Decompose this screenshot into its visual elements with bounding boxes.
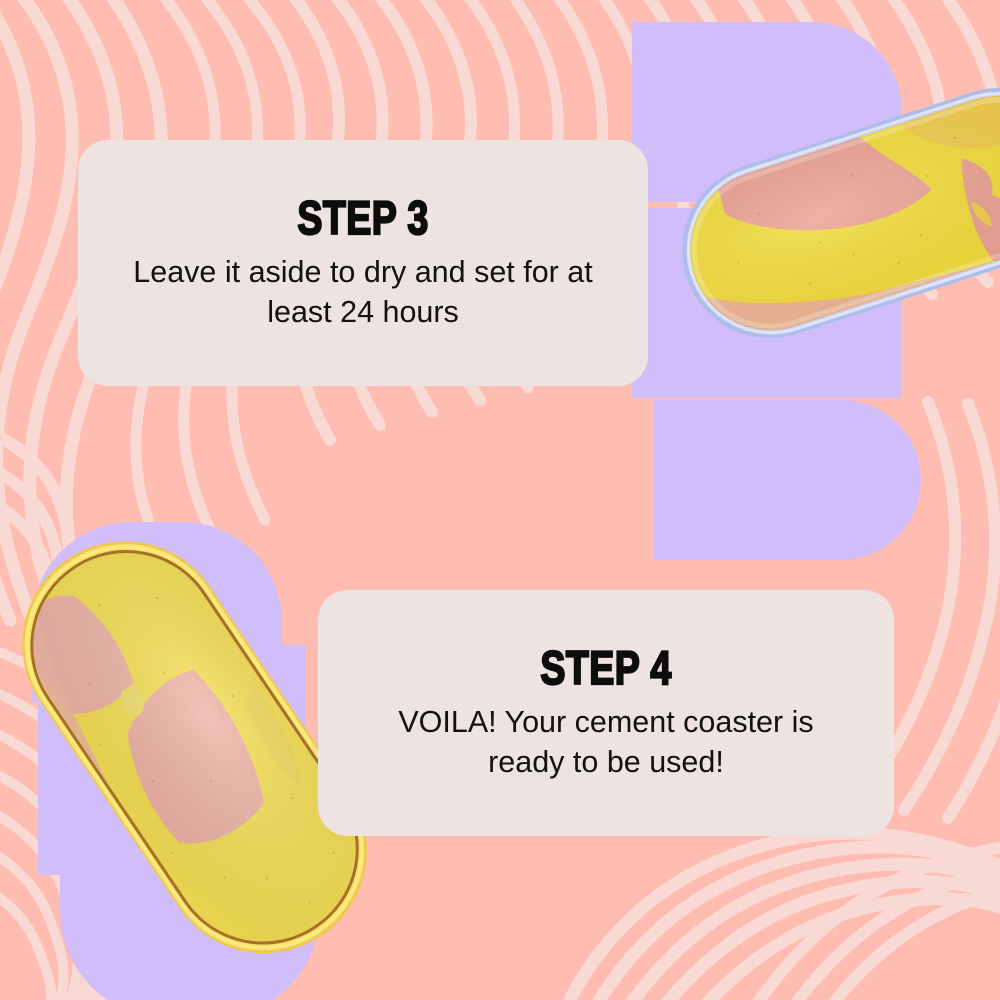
step-4-body: VOILA! Your cement coaster is ready to b…	[356, 703, 856, 782]
coaster-image-top-right	[675, 125, 1000, 485]
step-3-card: STEP 3 Leave it aside to dry and set for…	[78, 140, 648, 386]
step-3-title: STEP 3	[297, 194, 428, 241]
step-4-title: STEP 4	[540, 644, 671, 691]
step-4-card: STEP 4 VOILA! Your cement coaster is rea…	[318, 590, 894, 836]
step-3-body: Leave it aside to dry and set for at lea…	[113, 251, 613, 332]
poster-canvas: STEP 3 Leave it aside to dry and set for…	[0, 0, 1000, 1000]
